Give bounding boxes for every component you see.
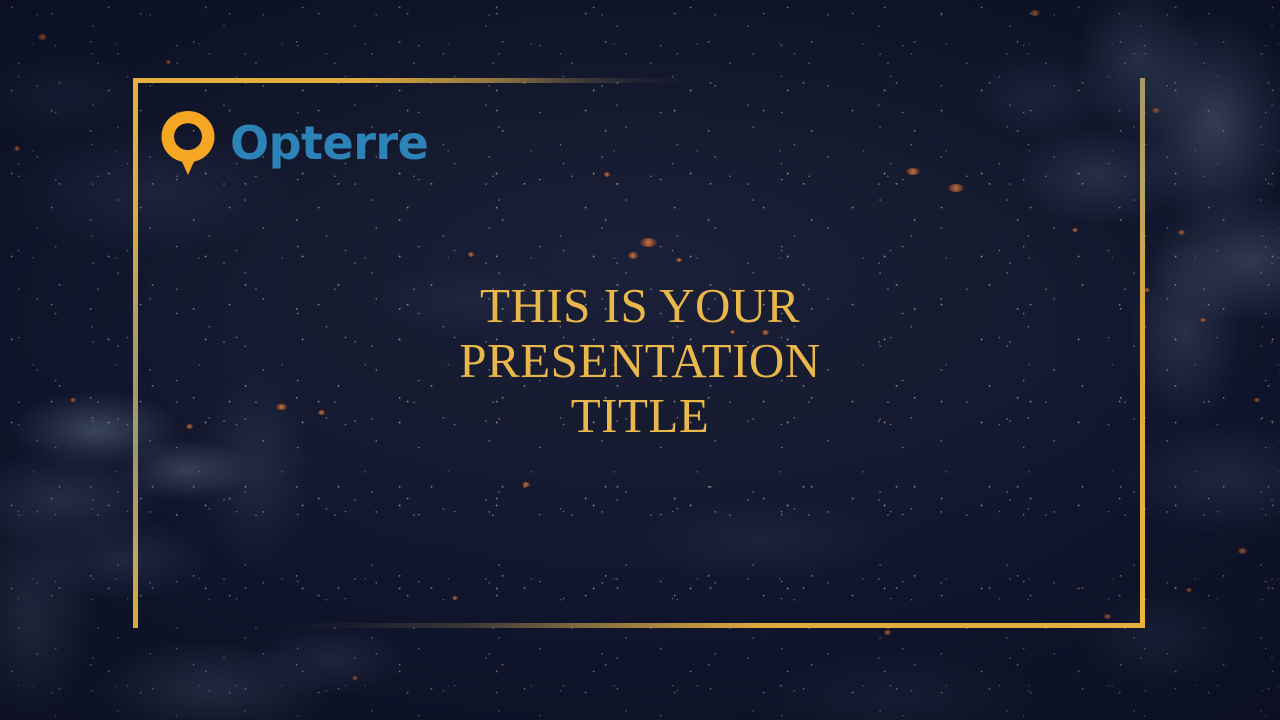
map-pin-icon (160, 110, 216, 176)
brand-logo: Opterre (160, 110, 428, 176)
title-block: THIS IS YOUR PRESENTATION TITLE (390, 278, 890, 443)
brand-name: Opterre (230, 120, 428, 166)
presentation-title: THIS IS YOUR PRESENTATION TITLE (390, 278, 890, 443)
presentation-slide: Opterre THIS IS YOUR PRESENTATION TITLE (0, 0, 1280, 720)
